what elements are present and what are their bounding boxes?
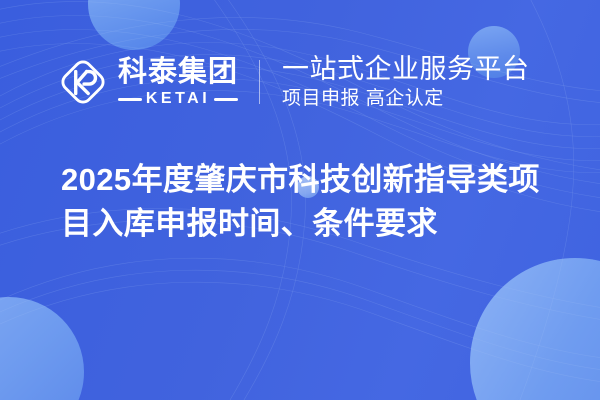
ketai-diamond-kp-monogram-icon (57, 56, 109, 108)
brand-rule-left (118, 98, 142, 101)
tagline-block: 一站式企业服务平台 项目申报 高企认定 (282, 54, 530, 111)
tagline-main: 一站式企业服务平台 (282, 54, 530, 85)
brand-lockup: 科泰集团 KETAI (57, 56, 238, 108)
circle-bottom-left-decoration (0, 297, 84, 400)
tagline-sub: 项目申报 高企认定 (282, 87, 530, 111)
brand-text-block: 科泰集团 KETAI (118, 57, 238, 107)
brand-latin-name: KETAI (146, 91, 210, 107)
promo-banner: 科泰集团 KETAI 一站式企业服务平台 项目申报 高企认定 2025年度肇庆市… (0, 0, 600, 400)
brand-name: 科泰集团 (118, 57, 238, 87)
banner-header: 科泰集团 KETAI 一站式企业服务平台 项目申报 高企认定 (0, 42, 600, 122)
brand-latin-row: KETAI (118, 91, 238, 107)
brand-rule-right (214, 98, 238, 101)
header-divider (259, 60, 260, 104)
circle-bottom-right-decoration (470, 258, 600, 400)
page-title: 2025年度肇庆市科技创新指导类项目入库申报时间、条件要求 (61, 158, 561, 246)
